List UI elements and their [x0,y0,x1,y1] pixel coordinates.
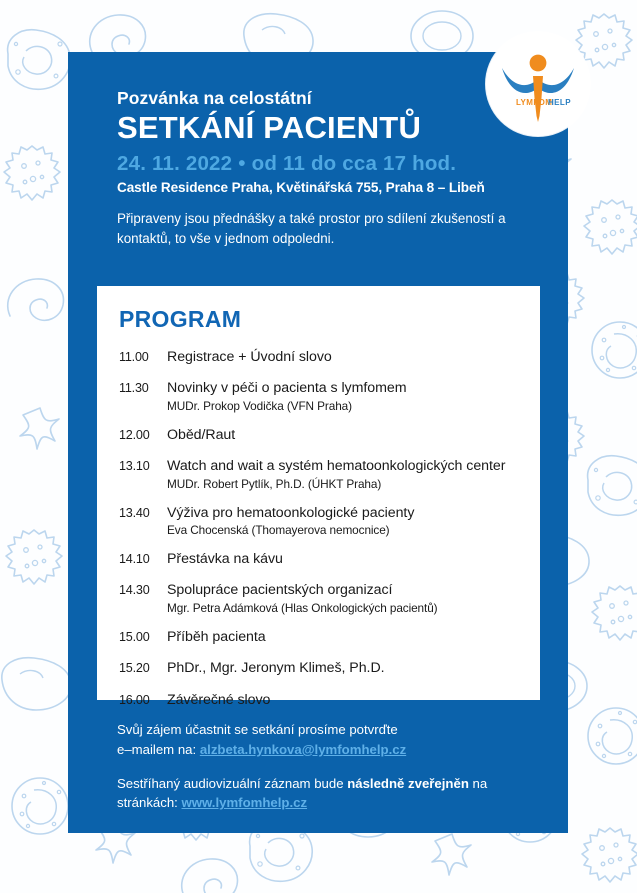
program-label: Watch and wait a systém hematoonkologick… [167,457,530,475]
program-row: 16.00Závěrečné slovo [119,691,530,709]
program-speaker: Mgr. Petra Adámková (Hlas Onkologických … [167,601,530,617]
program-body: Závěrečné slovo [167,691,530,709]
page-title: SETKÁNÍ PACIENTŮ [117,111,537,145]
program-time: 14.30 [119,581,167,599]
event-time: od 11 do cca 17 hod. [252,152,457,175]
program-body: Příběh pacienta [167,628,530,646]
rsvp-paragraph: Svůj zájem účastnit se setkání prosíme p… [117,720,537,760]
program-row: 15.20PhDr., Mgr. Jeronym Klimeš, Ph.D. [119,659,530,677]
program-time: 13.40 [119,504,167,522]
program-row: 12.00Oběd/Raut [119,426,530,444]
program-label: Spolupráce pacientských organizací [167,581,530,599]
program-time: 13.10 [119,457,167,475]
program-body: Watch and wait a systém hematoonkologick… [167,457,530,492]
program-body: Výživa pro hematoonkologické pacientyEva… [167,504,530,539]
program-time: 12.00 [119,426,167,444]
recording-emphasis: následně zveřejněn [347,776,469,791]
program-row: 11.00Registrace + Úvodní slovo [119,348,530,366]
program-body: Registrace + Úvodní slovo [167,348,530,366]
program-row: 11.30Novinky v péči o pacienta s lymfome… [119,379,530,414]
program-label: Oběd/Raut [167,426,530,444]
program-time: 14.10 [119,550,167,568]
logo-head-icon [530,55,547,72]
program-label: Přestávka na kávu [167,550,530,568]
program-speaker: Eva Chocenská (Thomayerova nemocnice) [167,523,530,539]
program-body: Spolupráce pacientských organizacíMgr. P… [167,581,530,616]
program-speaker: MUDr. Prokop Vodička (VFN Praha) [167,399,530,415]
program-label: Příběh pacienta [167,628,530,646]
poster-page: LYMFOM HELP Pozvánka na celostátní SETKÁ… [0,0,637,893]
recording-paragraph: Sestříhaný audiovizuální záznam bude nás… [117,774,537,814]
program-label: Závěrečné slovo [167,691,530,709]
program-card: PROGRAM 11.00Registrace + Úvodní slovo11… [97,286,540,700]
intro-paragraph: Připraveny jsou přednášky a také prostor… [117,209,517,248]
kicker-text: Pozvánka na celostátní [117,88,537,108]
program-row: 13.10Watch and wait a systém hematoonkol… [119,457,530,492]
logo-word-right: HELP [548,98,571,107]
rsvp-line-2-prefix: e–mailem na: [117,742,200,757]
program-speaker: MUDr. Robert Pytlík, Ph.D. (ÚHKT Praha) [167,477,530,493]
program-body: Oběd/Raut [167,426,530,444]
website-link[interactable]: www.lymfomhelp.cz [182,795,308,810]
program-row: 14.30Spolupráce pacientských organizacíM… [119,581,530,616]
venue-address: Castle Residence Praha, Květinářská 755,… [117,180,537,195]
program-label: PhDr., Mgr. Jeronym Klimeš, Ph.D. [167,659,530,677]
program-time: 15.20 [119,659,167,677]
program-label: Novinky v péči o pacienta s lymfomem [167,379,530,397]
program-time: 11.30 [119,379,167,397]
recording-prefix: Sestříhaný audiovizuální záznam bude [117,776,347,791]
header-block: Pozvánka na celostátní SETKÁNÍ PACIENTŮ … [117,88,537,248]
program-body: Novinky v péči o pacienta s lymfomemMUDr… [167,379,530,414]
program-time: 16.00 [119,691,167,709]
program-row: 15.00Příběh pacienta [119,628,530,646]
program-time: 15.00 [119,628,167,646]
date-time-line: 24. 11. 2022•od 11 do cca 17 hod. [117,152,537,176]
footer-block: Svůj zájem účastnit se setkání prosíme p… [117,720,537,813]
program-time: 11.00 [119,348,167,366]
program-label: Výživa pro hematoonkologické pacienty [167,504,530,522]
program-list: 11.00Registrace + Úvodní slovo11.30Novin… [119,348,530,722]
program-row: 13.40Výživa pro hematoonkologické pacien… [119,504,530,539]
lymfomhelp-logo: LYMFOM HELP [486,32,590,136]
program-body: PhDr., Mgr. Jeronym Klimeš, Ph.D. [167,659,530,677]
program-row: 14.10Přestávka na kávu [119,550,530,568]
program-heading: PROGRAM [119,306,241,333]
program-label: Registrace + Úvodní slovo [167,348,530,366]
email-link[interactable]: alzbeta.hynkova@lymfomhelp.cz [200,742,406,757]
logo-word-left: LYMFOM [516,98,552,107]
event-date: 24. 11. 2022 [117,152,232,175]
rsvp-line-1: Svůj zájem účastnit se setkání prosíme p… [117,722,398,737]
program-body: Přestávka na kávu [167,550,530,568]
bullet-separator-icon: • [232,152,251,175]
